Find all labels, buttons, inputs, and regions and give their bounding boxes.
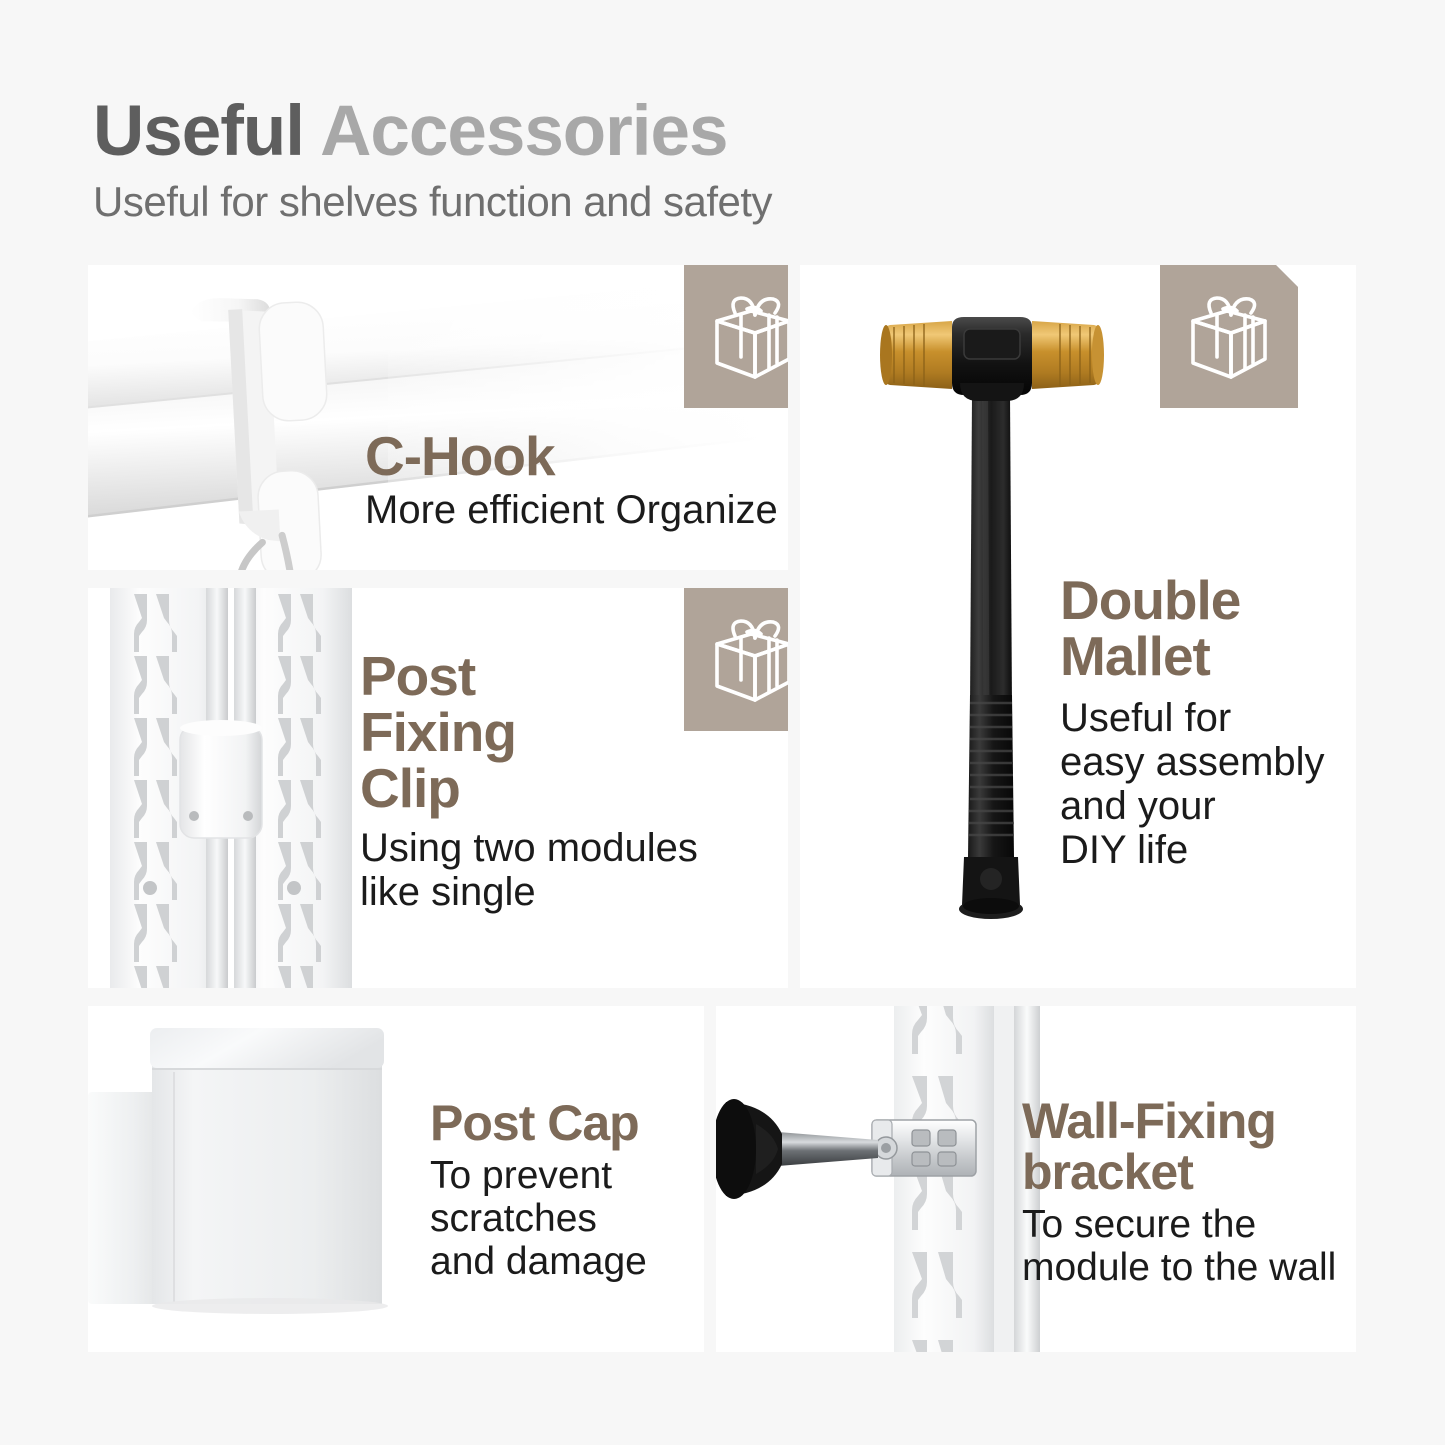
page-title: Useful Accessories: [93, 96, 1353, 167]
desc-line: and your: [1060, 784, 1216, 828]
title-line: bracket: [1022, 1144, 1193, 1200]
gift-badge-double-mallet: [1160, 265, 1298, 408]
desc-line: scratches: [430, 1197, 597, 1240]
badge-fold-corner: [1276, 265, 1298, 287]
accessory-text-wall-fixing-bracket: Wall-Fixingbracket To secure themodule t…: [1022, 1096, 1342, 1290]
accessory-desc-wall-fixing-bracket: To secure themodule to the wall: [1022, 1204, 1342, 1290]
title-line: Fixing: [360, 701, 516, 763]
desc-line: DIY life: [1060, 828, 1188, 872]
accessory-text-post-cap: Post Cap To preventscratchesand damage: [430, 1098, 690, 1284]
gift-badge-c-hook: [684, 265, 788, 408]
accessory-title-c-hook: C-Hook: [365, 428, 785, 484]
desc-line: easy assembly: [1060, 740, 1325, 784]
accessory-text-c-hook: C-Hook More efficient Organize: [365, 428, 785, 532]
wall-fixing-bracket-product-photo: [716, 1006, 1046, 1352]
title-line: Mallet: [1060, 625, 1210, 687]
desc-line: module to the wall: [1022, 1246, 1336, 1289]
infographic-page: Useful Accessories Useful for shelves fu…: [0, 0, 1445, 1445]
accessory-title-post-cap: Post Cap: [430, 1098, 690, 1149]
post-cap-product-photo: [88, 1006, 488, 1352]
desc-line: To secure the: [1022, 1203, 1256, 1246]
gift-box-icon: [705, 289, 788, 385]
accessory-title-double-mallet: DoubleMallet: [1060, 572, 1350, 684]
desc-line: Useful for: [1060, 696, 1231, 740]
desc-line: To prevent: [430, 1154, 612, 1197]
accessory-title-post-fixing-clip: PostFixingClip: [360, 648, 700, 816]
desc-line: Using two modules: [360, 826, 698, 870]
accessory-desc-post-fixing-clip: Using two moduleslike single: [360, 826, 700, 914]
header: Useful Accessories Useful for shelves fu…: [93, 96, 1353, 223]
post-fixing-clip-product-photo: [88, 588, 388, 988]
page-title-strong: Useful: [93, 92, 304, 171]
accessory-text-double-mallet: DoubleMallet Useful foreasy assemblyand …: [1060, 572, 1350, 872]
accessory-desc-post-cap: To preventscratchesand damage: [430, 1155, 690, 1284]
title-line: Double: [1060, 569, 1240, 631]
title-line: Post: [360, 645, 475, 707]
page-subtitle: Useful for shelves function and safety: [93, 181, 1353, 223]
accessory-title-wall-fixing-bracket: Wall-Fixingbracket: [1022, 1096, 1342, 1198]
desc-line: and damage: [430, 1240, 647, 1283]
gift-box-icon: [705, 612, 788, 708]
title-line: Clip: [360, 757, 460, 819]
gift-box-icon: [1181, 289, 1277, 385]
page-title-light: Accessories: [320, 92, 727, 171]
title-line: Wall-Fixing: [1022, 1093, 1276, 1149]
accessory-desc-double-mallet: Useful foreasy assemblyand yourDIY life: [1060, 696, 1350, 872]
desc-line: like single: [360, 870, 536, 914]
accessory-text-post-fixing-clip: PostFixingClip Using two moduleslike sin…: [360, 648, 700, 914]
accessory-desc-c-hook: More efficient Organize: [365, 488, 785, 532]
